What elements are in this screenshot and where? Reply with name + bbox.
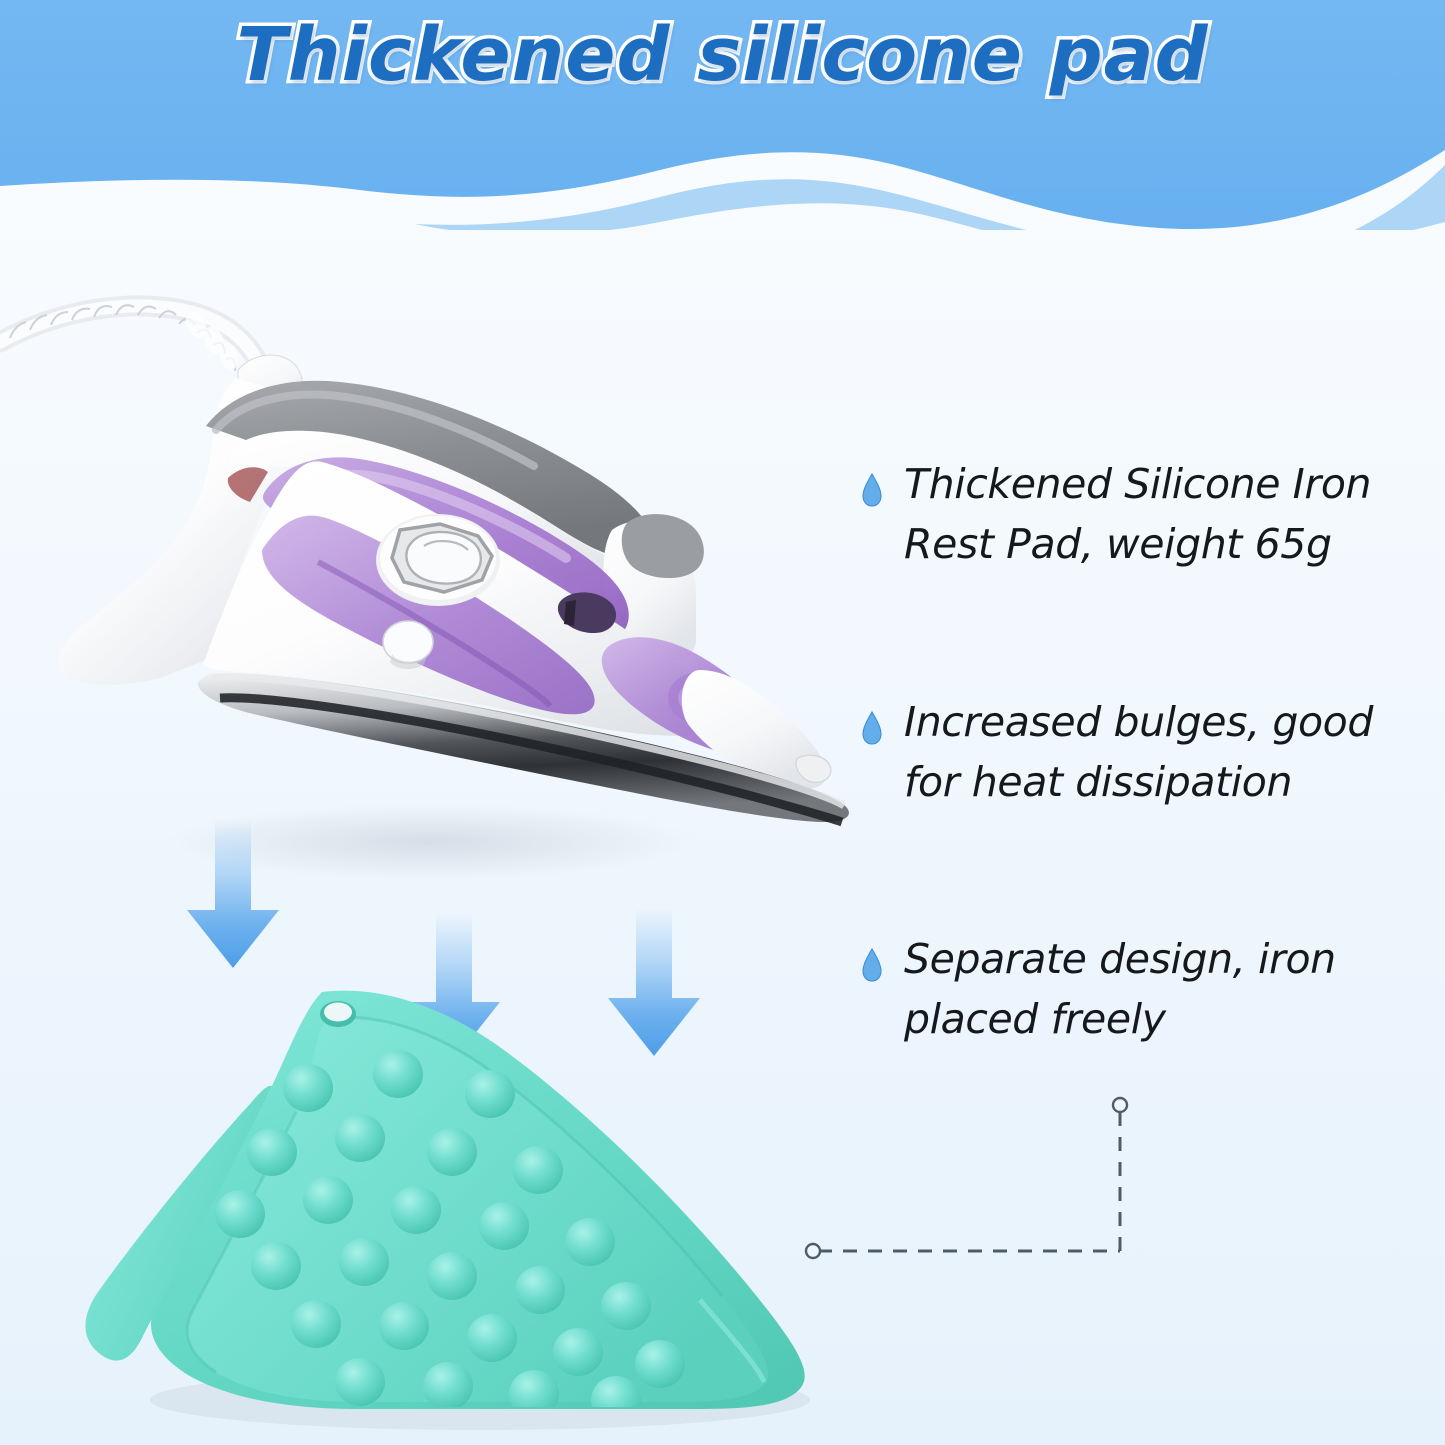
page-title: Thickened silicone pad bbox=[0, 12, 1445, 98]
placement-direction-arrow bbox=[608, 908, 700, 1056]
callout-endpoint-start bbox=[806, 1244, 820, 1258]
steam-iron-graphic bbox=[0, 305, 849, 880]
feature-item: Thickened Silicone Iron Rest Pad, weight… bbox=[862, 455, 1437, 575]
iron-drop-bullet-icon bbox=[862, 948, 882, 982]
header-banner: Thickened silicone pad bbox=[0, 0, 1445, 230]
iron-steam-dial bbox=[376, 514, 500, 606]
pad-hanging-hole bbox=[320, 1001, 356, 1027]
feature-item: Separate design, iron placed freely bbox=[862, 930, 1437, 1050]
callout-endpoint-end bbox=[1113, 1098, 1127, 1112]
iron-drop-bullet-icon bbox=[862, 711, 882, 745]
dimension-callout bbox=[790, 1080, 1150, 1280]
product-infographic-page: Thickened silicone pad bbox=[0, 0, 1445, 1445]
feature-text: Increased bulges, good for heat dissipat… bbox=[904, 693, 1437, 813]
feature-list: Thickened Silicone Iron Rest Pad, weight… bbox=[862, 455, 1437, 1050]
iron-drop-bullet-icon bbox=[862, 473, 882, 507]
silicone-iron-rest-pad-graphic bbox=[85, 991, 810, 1430]
iron-power-cord bbox=[0, 305, 262, 372]
feature-item: Increased bulges, good for heat dissipat… bbox=[862, 693, 1437, 813]
feature-text: Thickened Silicone Iron Rest Pad, weight… bbox=[904, 455, 1437, 575]
feature-text: Separate design, iron placed freely bbox=[904, 930, 1437, 1050]
